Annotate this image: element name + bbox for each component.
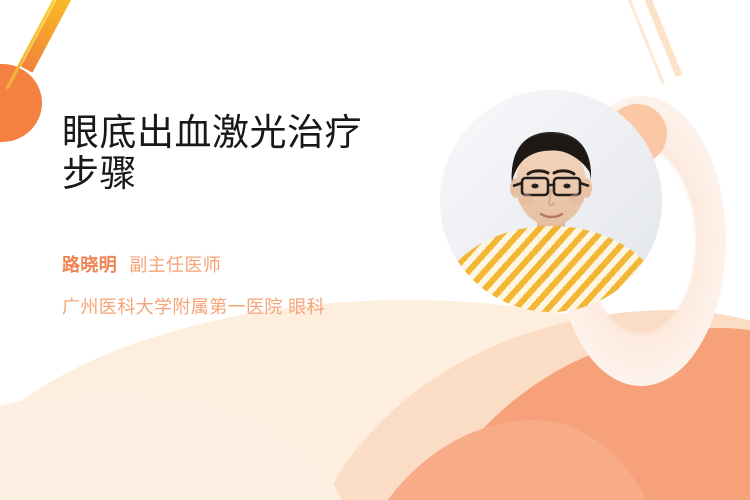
top-left-thin-stripe-shape [6, 0, 66, 90]
top-right-stripe-shape-a [635, 0, 683, 77]
cover-text-block: 眼底出血激光治疗 步骤 路晓明副主任医师 广州医科大学附属第一医院 眼科 [62, 112, 422, 319]
top-left-thick-stripe-shape [21, 0, 84, 73]
doctor-credits: 路晓明副主任医师 广州医科大学附属第一医院 眼科 [62, 251, 422, 319]
doctor-rank: 副主任医师 [129, 255, 221, 275]
bottom-cream-wave-shape [0, 300, 750, 500]
course-cover-card: 眼底出血激光治疗 步骤 路晓明副主任医师 广州医科大学附属第一医院 眼科 [0, 0, 750, 500]
orange-half-circle-shape [0, 64, 42, 142]
doctor-name-and-rank: 路晓明副主任医师 [62, 251, 422, 277]
doctor-affiliation: 广州医科大学附属第一医院 眼科 [62, 293, 422, 319]
top-right-stripe-shape-b [620, 0, 665, 84]
bottom-salmon-wave-shape-2 [330, 420, 670, 500]
bottom-peach-wave-shape [300, 310, 750, 500]
bottom-left-cream-wave-shape [0, 390, 350, 500]
lower-left-stripe-shape [155, 356, 178, 399]
doctor-name: 路晓明 [62, 255, 117, 275]
page-title: 眼底出血激光治疗 步骤 [62, 112, 422, 195]
doctor-portrait-avatar [440, 90, 662, 312]
bottom-salmon-wave-shape [398, 328, 750, 500]
